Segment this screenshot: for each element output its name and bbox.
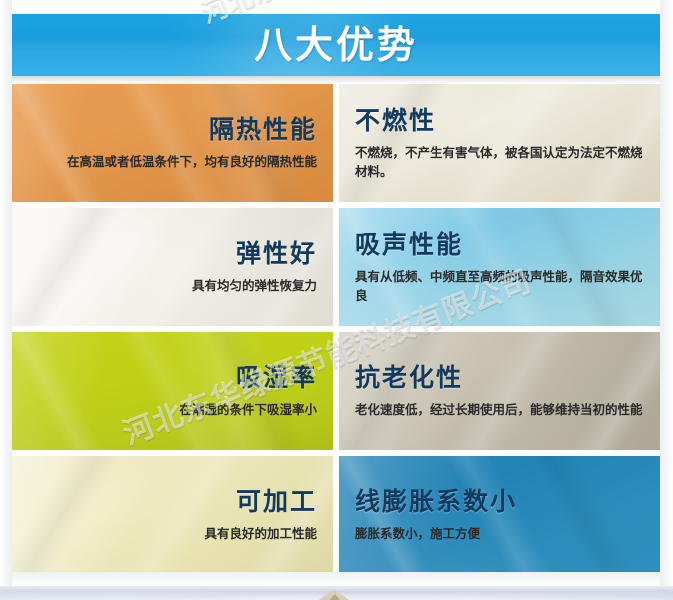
advantage-desc-1: 在高温或者低温条件下，均有良好的隔热性能 bbox=[67, 152, 317, 171]
advantage-card-2[interactable]: 不燃性 不燃烧，不产生有害气体，被各国认定为法定不燃烧材料。 bbox=[339, 84, 660, 202]
advantage-title-5: 吸湿率 bbox=[236, 364, 317, 393]
advantage-desc-2: 不燃烧，不产生有害气体，被各国认定为法定不燃烧材料。 bbox=[355, 143, 644, 182]
page-title: 八大优势 bbox=[12, 16, 660, 74]
advantage-title-1: 隔热性能 bbox=[209, 116, 317, 145]
advantage-title-7: 可加工 bbox=[236, 488, 317, 517]
roof-peak-inner-icon bbox=[328, 594, 342, 600]
advantage-desc-6: 老化速度低，经过长期使用后，能够维持当初的性能 bbox=[355, 400, 643, 419]
bottom-section bbox=[0, 586, 673, 600]
advantage-title-2: 不燃性 bbox=[355, 107, 436, 136]
advantage-card-4[interactable]: 吸声性能 具有从低频、中频直至高频的吸声性能，隔音效果优良 bbox=[339, 208, 660, 326]
advantage-desc-7: 具有良好的加工性能 bbox=[204, 524, 317, 543]
bottom-spacer bbox=[12, 572, 660, 586]
advantage-desc-3: 具有均匀的弹性恢复力 bbox=[192, 276, 317, 295]
page-right-edge bbox=[660, 0, 673, 600]
advantage-card-8[interactable]: 线膨胀系数小 膨胀系数小，施工方便 bbox=[339, 456, 660, 574]
advantage-title-4: 吸声性能 bbox=[355, 231, 463, 260]
advantage-card-3[interactable]: 弹性好 具有均匀的弹性恢复力 bbox=[12, 208, 333, 326]
advantage-title-6: 抗老化性 bbox=[355, 364, 463, 393]
advantages-infographic-page: 八大优势 隔热性能 在高温或者低温条件下，均有良好的隔热性能 不燃性 不燃烧，不… bbox=[0, 0, 673, 600]
banner-drop-shadow bbox=[12, 76, 660, 84]
advantage-card-5[interactable]: 吸湿率 在潮湿的条件下吸湿率小 bbox=[12, 332, 333, 450]
advantage-desc-4: 具有从低频、中频直至高频的吸声性能，隔音效果优良 bbox=[355, 267, 644, 306]
advantage-desc-8: 膨胀系数小，施工方便 bbox=[355, 524, 480, 543]
advantage-title-8: 线膨胀系数小 bbox=[355, 488, 517, 517]
advantage-card-1[interactable]: 隔热性能 在高温或者低温条件下，均有良好的隔热性能 bbox=[12, 84, 333, 202]
advantage-card-6[interactable]: 抗老化性 老化速度低，经过长期使用后，能够维持当初的性能 bbox=[339, 332, 660, 450]
advantage-title-3: 弹性好 bbox=[236, 240, 317, 269]
page-left-edge bbox=[0, 0, 12, 600]
advantage-desc-5: 在潮湿的条件下吸湿率小 bbox=[179, 400, 317, 419]
header-banner: 八大优势 bbox=[12, 14, 660, 76]
advantages-grid: 隔热性能 在高温或者低温条件下，均有良好的隔热性能 不燃性 不燃烧，不产生有害气… bbox=[12, 84, 660, 572]
advantage-card-7[interactable]: 可加工 具有良好的加工性能 bbox=[12, 456, 333, 574]
